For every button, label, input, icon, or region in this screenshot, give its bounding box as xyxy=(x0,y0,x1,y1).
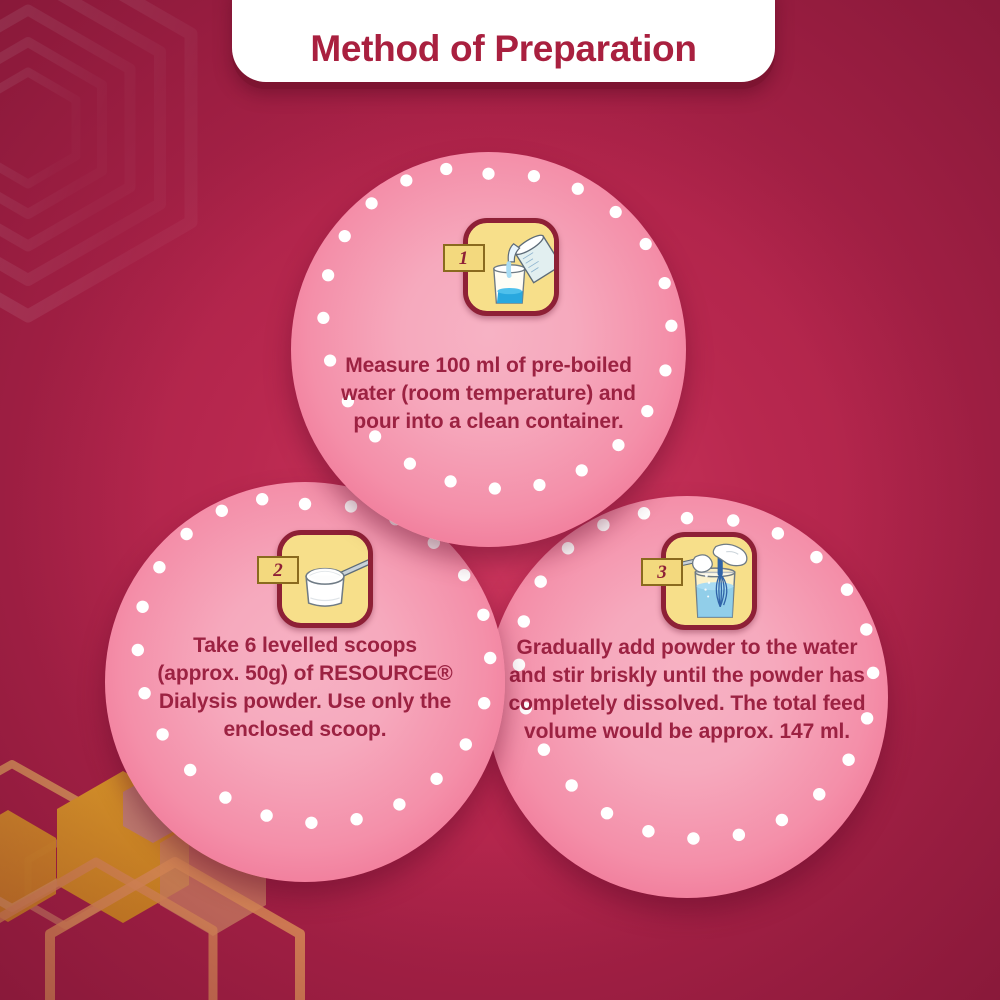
step-1-body: Measure 100 ml of pre-boiled water (room… xyxy=(291,352,686,436)
step-3-body: Gradually add powder to the water and st… xyxy=(486,634,888,746)
step-circle-3: 3 Gradually add powder to the water and … xyxy=(486,496,888,898)
step-1-text: Measure 100 ml of pre-boiled water (room… xyxy=(324,352,654,436)
step-3-icon-wrap: 3 xyxy=(641,532,757,636)
step-2-body: Take 6 levelled scoops (approx. 50g) of … xyxy=(105,632,505,744)
step-number-badge-1: 1 xyxy=(443,244,485,272)
step-2-text: Take 6 levelled scoops (approx. 50g) of … xyxy=(155,632,455,744)
step-1-icon-wrap: 1 xyxy=(443,218,559,322)
step-number-3: 3 xyxy=(657,563,667,582)
step-number-1: 1 xyxy=(459,249,469,268)
page-title: Method of Preparation xyxy=(310,28,696,70)
dot-ring-1 xyxy=(291,152,686,547)
infographic-canvas: Method of Preparation xyxy=(0,0,1000,1000)
step-number-badge-2: 2 xyxy=(257,556,299,584)
step-3-text: Gradually add powder to the water and st… xyxy=(507,634,867,746)
step-circle-1: 1 Measure 100 ml of pre-boiled water (ro… xyxy=(291,152,686,547)
step-number-badge-3: 3 xyxy=(641,558,683,586)
step-2-icon-wrap: 2 xyxy=(257,530,373,634)
step-number-2: 2 xyxy=(273,561,283,580)
title-panel: Method of Preparation xyxy=(232,0,775,82)
